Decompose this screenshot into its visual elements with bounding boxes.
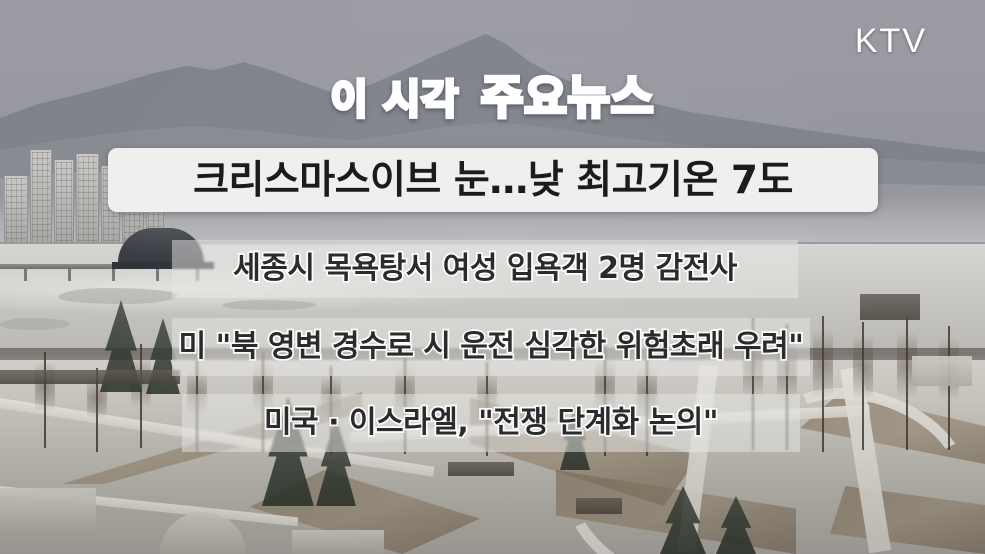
sub-headline-plate-1[interactable]: 세종시 목욕탕서 여성 입욕객 2명 감전사	[172, 240, 798, 298]
sub-headline-text-2: 미 "북 영변 경수로 시 운전 심각한 위험초래 우려"	[179, 332, 804, 362]
lead-headline-plate[interactable]: 크리스마스이브 눈…낮 최고기온 7도	[108, 148, 878, 212]
sub-headline-plate-2[interactable]: 미 "북 영변 경수로 시 운전 심각한 위험초래 우려"	[172, 318, 810, 376]
sub-headline-text-1: 세종시 목욕탕서 여성 입욕객 2명 감전사	[233, 254, 737, 284]
sub-headline-text-3: 미국 · 이스라엘, "전쟁 단계화 논의"	[264, 408, 718, 438]
sub-headline-plate-3[interactable]: 미국 · 이스라엘, "전쟁 단계화 논의"	[182, 394, 800, 452]
lead-headline-text: 크리스마스이브 눈…낮 최고기온 7도	[193, 161, 793, 200]
headline-stack: 크리스마스이브 눈…낮 최고기온 7도 세종시 목욕탕서 여성 입욕객 2명 감…	[0, 0, 985, 554]
broadcast-frame: KTV 이 시각주요뉴스 크리스마스이브 눈…낮 최고기온 7도 세종시 목욕탕…	[0, 0, 985, 554]
